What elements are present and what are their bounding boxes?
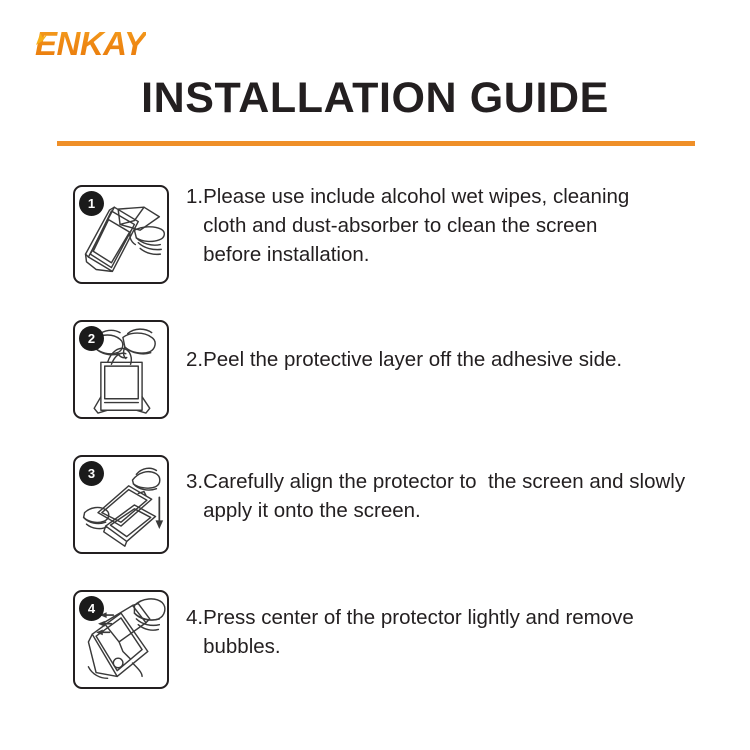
- brand-logo: ENKAY: [28, 22, 218, 66]
- step-item: 3 3.Carefully align the protector to the…: [0, 442, 750, 577]
- step-description: 2.Peel the protective layer off the adhe…: [186, 345, 696, 374]
- step-number-badge: 2: [79, 326, 104, 351]
- spark-icon: [35, 33, 48, 46]
- page-header: INSTALLATION GUIDE: [0, 72, 750, 124]
- step-number-badge: 4: [79, 596, 104, 621]
- step-number-badge: 3: [79, 461, 104, 486]
- page-title: INSTALLATION GUIDE: [0, 72, 750, 124]
- step-description: 3.Carefully align the protector to the s…: [186, 467, 696, 525]
- step-item: 2 2.Peel the protective layer off the ad…: [0, 307, 750, 442]
- step-description: 1.Please use include alcohol wet wipes, …: [186, 182, 696, 269]
- step-item: 4 4.Press center of the protector lightl…: [0, 577, 750, 712]
- step-number-badge: 1: [79, 191, 104, 216]
- step-description: 4.Press center of the protector lightly …: [186, 603, 696, 661]
- steps-list: 1 1.Please use include alcohol wet wipes…: [0, 172, 750, 712]
- header-divider-rule: [57, 141, 695, 146]
- step-item: 1 1.Please use include alcohol wet wipes…: [0, 172, 750, 307]
